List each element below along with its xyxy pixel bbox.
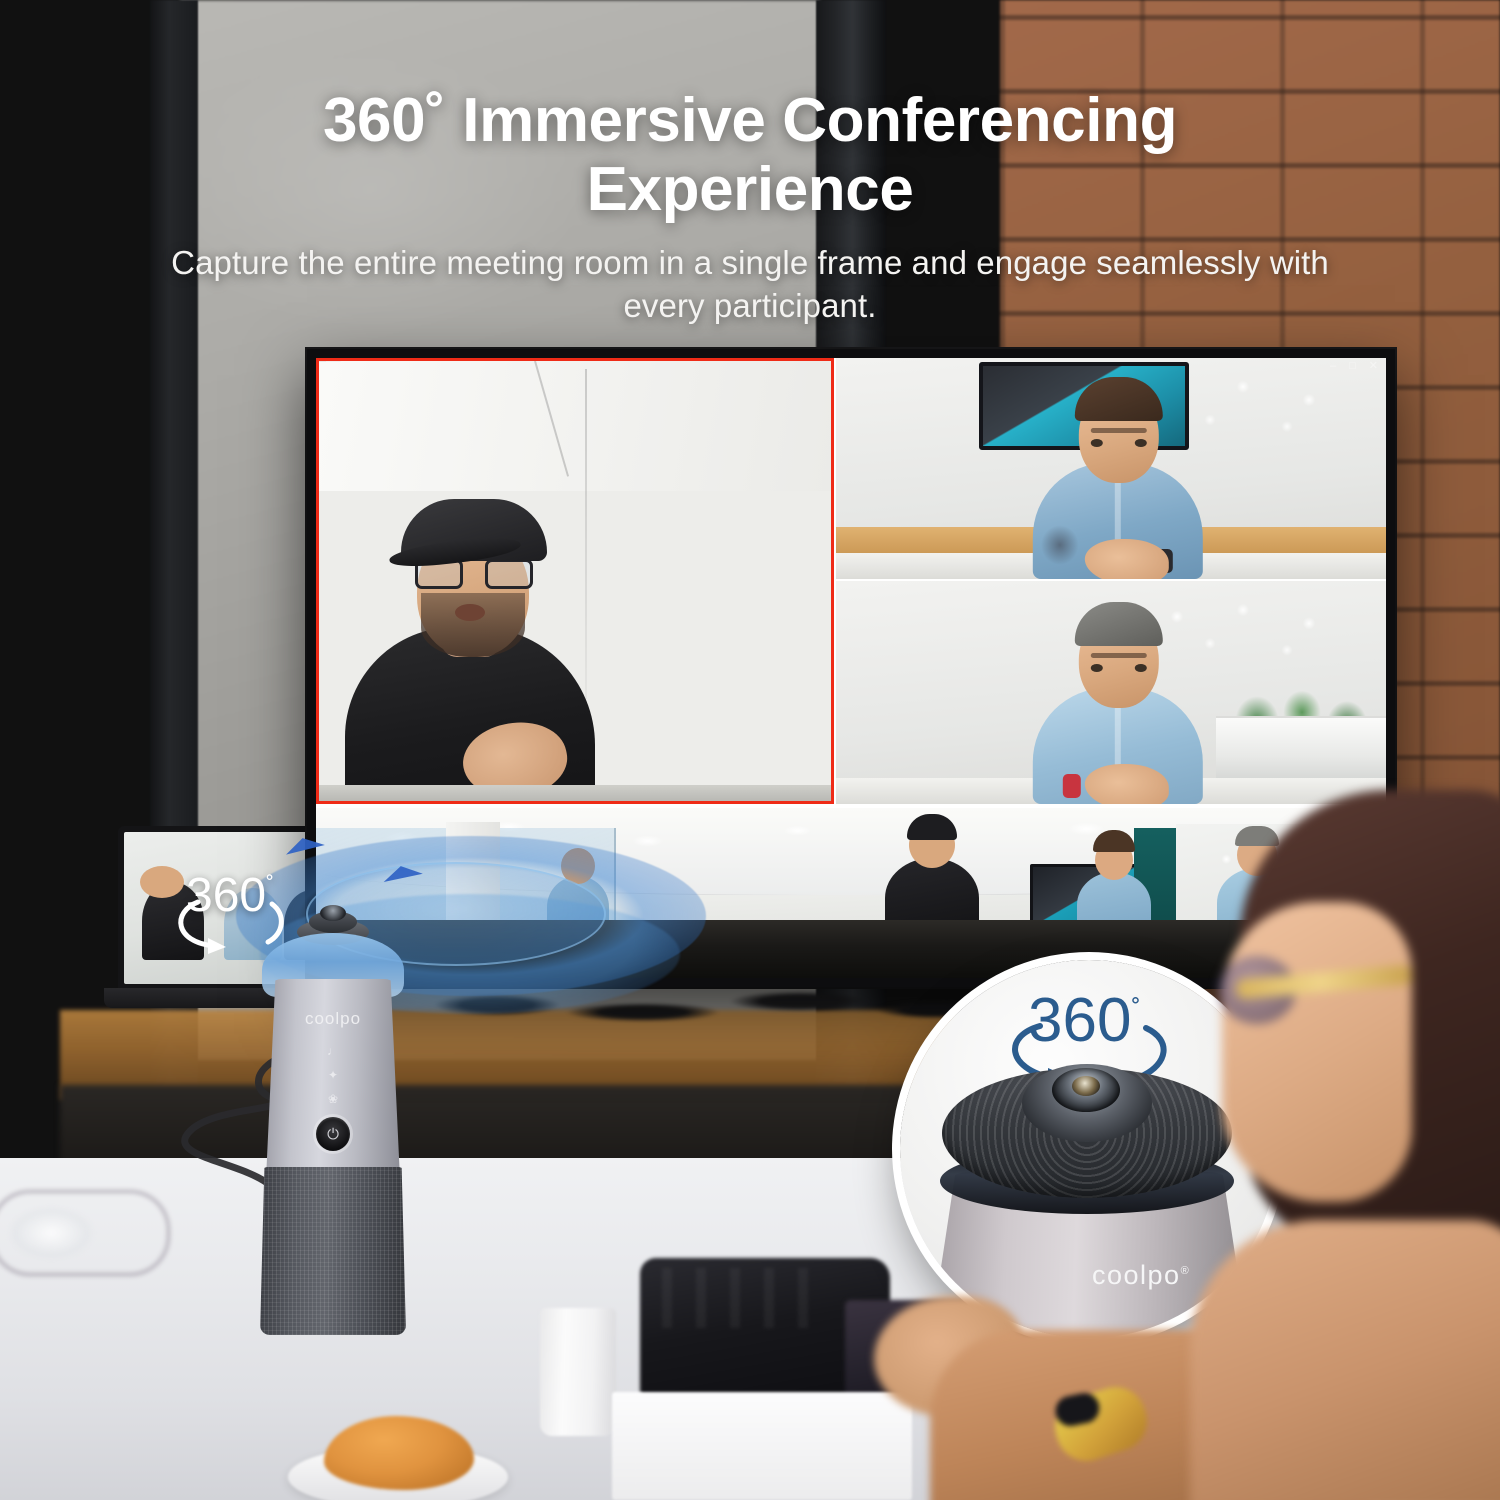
- eyes: [1091, 439, 1147, 447]
- croissant-on-plate: [288, 1390, 508, 1500]
- notepad: [612, 1392, 912, 1500]
- video-call-window: – □ ✕: [316, 358, 1386, 804]
- speaker-mesh: [260, 1167, 406, 1335]
- mic-icon: ✦: [328, 1069, 338, 1081]
- thumbnail-column: [834, 358, 1386, 804]
- desk-edge: [319, 785, 831, 801]
- headline-line-1: 360˚ Immersive Conferencing: [0, 86, 1500, 155]
- participant-avatar: [1033, 614, 1203, 804]
- close-icon[interactable]: ✕: [1369, 361, 1378, 372]
- participant-avatar: [345, 507, 595, 804]
- participant-avatar: [1033, 389, 1203, 579]
- watch: [1063, 774, 1081, 798]
- hands: [1085, 539, 1169, 581]
- product-marketing-image: 360˚ Immersive Conferencing Experience C…: [0, 0, 1500, 1500]
- inset-lens-pupil: [1072, 1076, 1100, 1096]
- maximize-icon[interactable]: □: [1349, 361, 1356, 372]
- brow: [1091, 428, 1147, 433]
- headline-line-2: Experience: [0, 155, 1500, 224]
- participant-tile-1[interactable]: [834, 358, 1386, 581]
- device-brand-logo: coolpo: [258, 1009, 408, 1029]
- participant-tile-2[interactable]: [834, 581, 1386, 804]
- croissant: [324, 1416, 474, 1490]
- tattoo: [1041, 525, 1079, 565]
- subtitle: Capture the entire meeting room in a sin…: [0, 241, 1500, 328]
- headline-block: 360˚ Immersive Conferencing Experience C…: [0, 86, 1500, 328]
- inset-360-badge: 360˚: [1028, 990, 1178, 1070]
- beard: [421, 593, 525, 657]
- eyes: [1091, 664, 1147, 672]
- window-controls[interactable]: – □ ✕: [1330, 361, 1378, 372]
- eyeglasses: [0, 1190, 170, 1276]
- minimize-icon[interactable]: –: [1330, 361, 1336, 372]
- white-cup: [540, 1308, 616, 1436]
- face: [1222, 902, 1412, 1202]
- bluetooth-icon: ❀: [328, 1093, 338, 1105]
- shoulder: [1190, 1220, 1500, 1500]
- foreground-person: [1200, 790, 1500, 1500]
- hands: [1085, 764, 1169, 804]
- power-button[interactable]: ⏻: [316, 1117, 350, 1151]
- active-speaker-tile[interactable]: [316, 358, 834, 804]
- volume-icon: ♩: [327, 1045, 339, 1057]
- brow: [1091, 653, 1147, 658]
- ceiling-grid: [319, 361, 831, 491]
- inset-brand-logo: coolpo®: [1092, 1260, 1190, 1291]
- conference-camera-device: coolpo ♩ ✦ ❀ ⏻: [258, 905, 408, 1335]
- mouth: [455, 604, 485, 621]
